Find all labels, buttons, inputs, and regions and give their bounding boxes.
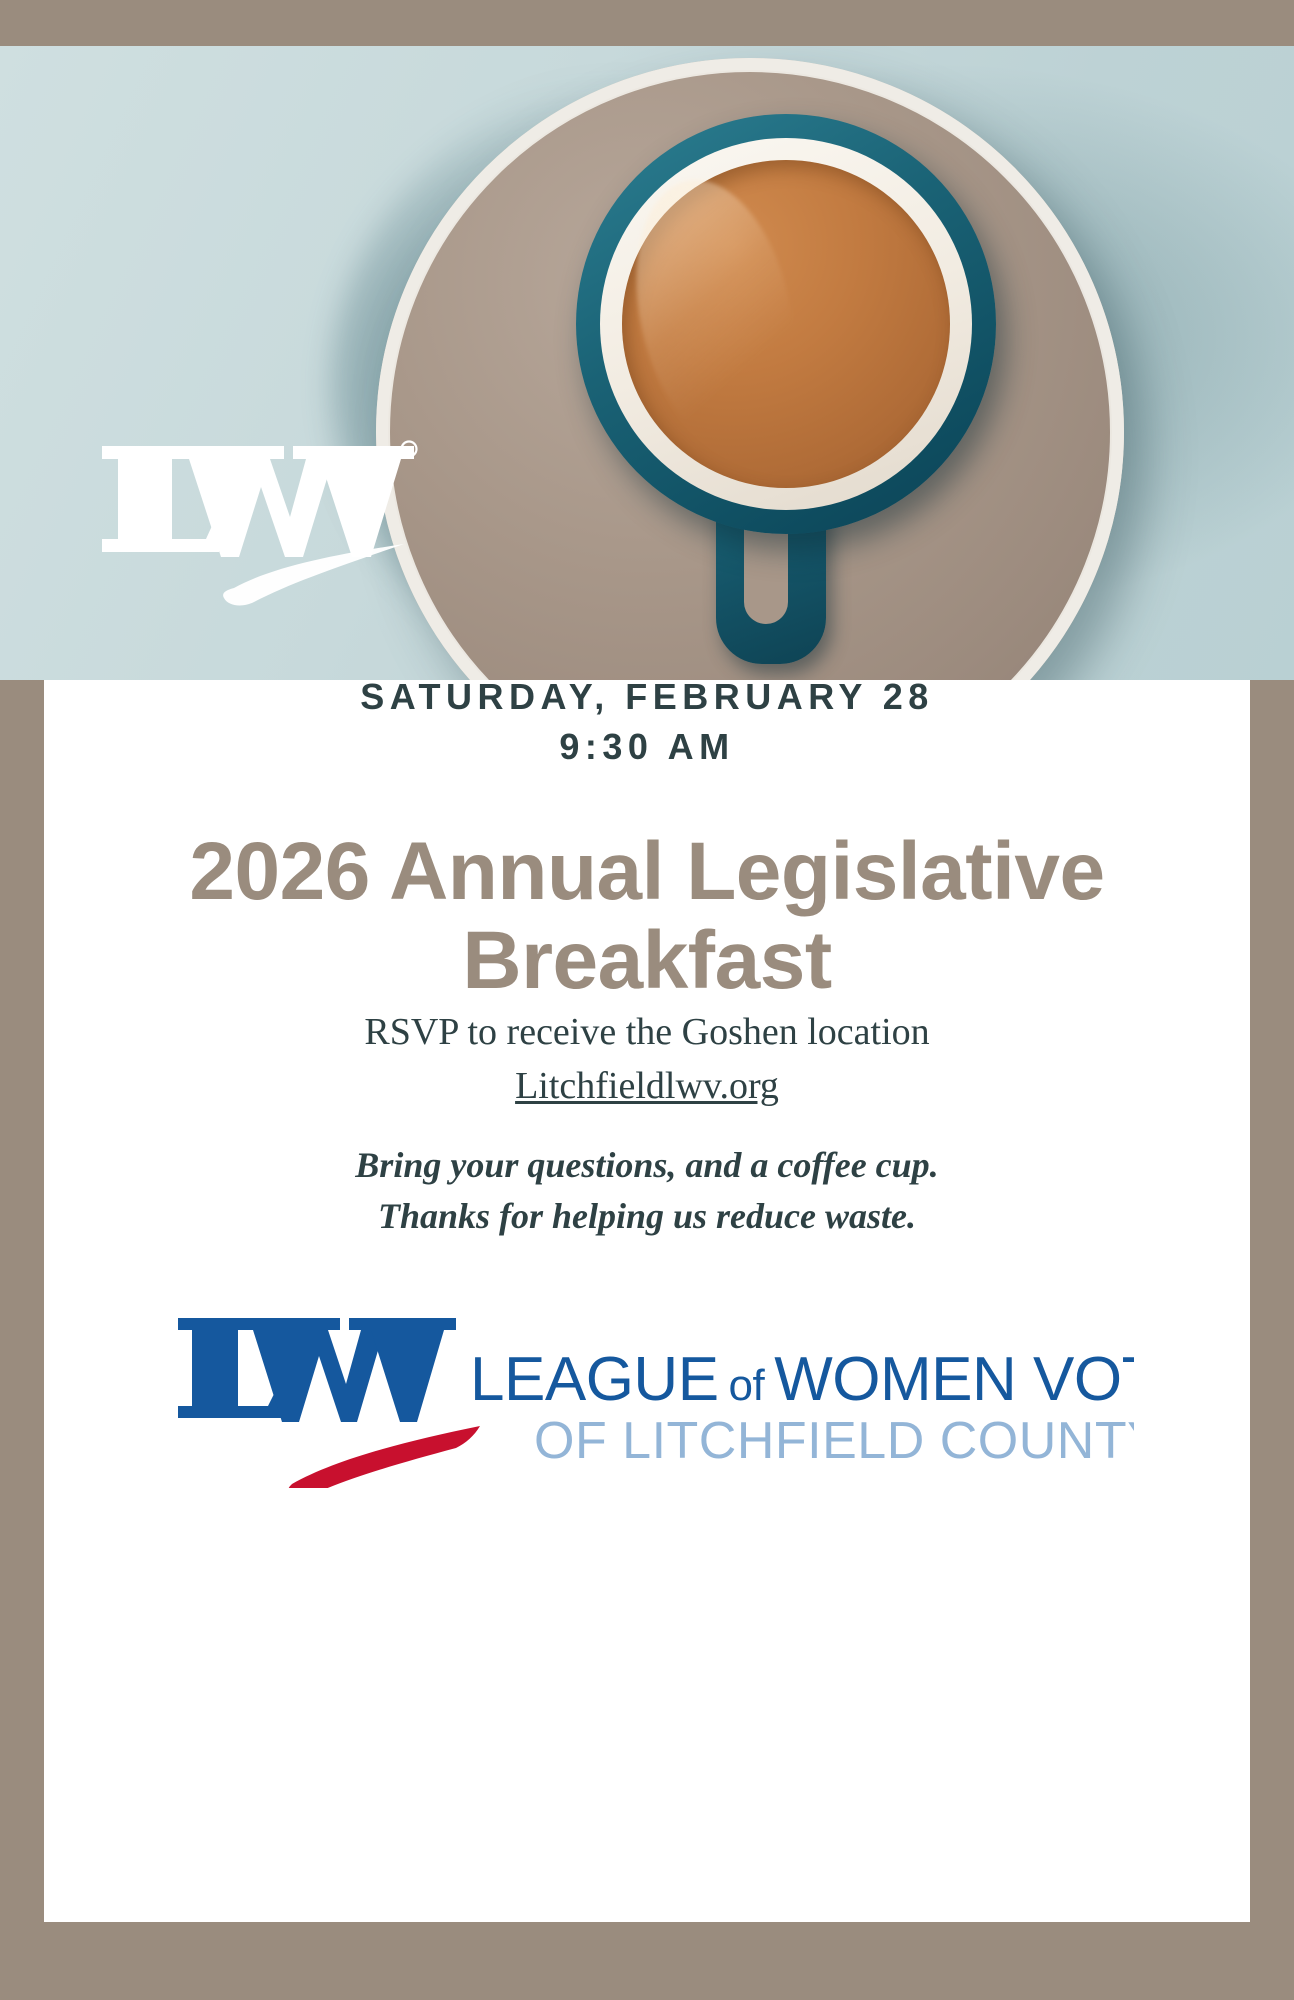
event-date: SATURDAY, FEBRUARY 28 (44, 672, 1250, 722)
logo-line-1: LEAGUEofWOMEN VOTERS® (470, 1345, 1134, 1414)
hero-photo: R (0, 46, 1294, 680)
reminder-note-line-1: Bring your questions, and a coffee cup. (104, 1140, 1190, 1191)
page-title-line-1: 2026 Annual Legislative (189, 826, 1104, 917)
page-title-line-2: Breakfast (462, 915, 831, 1006)
poster: R SATURDAY, FEBRUARY 28 9:30 AM 2026 Ann… (0, 0, 1294, 2000)
reminder-note-line-2: Thanks for helping us reduce waste. (104, 1191, 1190, 1242)
content-card: SATURDAY, FEBRUARY 28 9:30 AM 2026 Annua… (44, 680, 1250, 1922)
logo-of-text: of (729, 1361, 766, 1410)
event-datetime: SATURDAY, FEBRUARY 28 9:30 AM (44, 672, 1250, 771)
logo-women-voters-text: WOMEN VOTERS (774, 1345, 1134, 1414)
red-swoosh-icon (288, 1426, 480, 1488)
page-title: 2026 Annual Legislative Breakfast (84, 828, 1210, 1005)
rsvp-block: RSVP to receive the Goshen location Litc… (104, 1006, 1190, 1114)
logo-league-text: LEAGUE (470, 1345, 719, 1414)
rsvp-url-link[interactable]: Litchfieldlwv.org (515, 1065, 779, 1107)
logo-line-2: OF LITCHFIELD COUNTY (534, 1412, 1134, 1470)
event-time: 9:30 AM (44, 722, 1250, 772)
reminder-note: Bring your questions, and a coffee cup. … (104, 1140, 1190, 1242)
lwv-litchfield-logo: LEAGUEofWOMEN VOTERS® OF LITCHFIELD COUN… (174, 1288, 1134, 1488)
rsvp-instruction: RSVP to receive the Goshen location (104, 1006, 1190, 1060)
lwv-wordmark-icon (178, 1318, 456, 1422)
